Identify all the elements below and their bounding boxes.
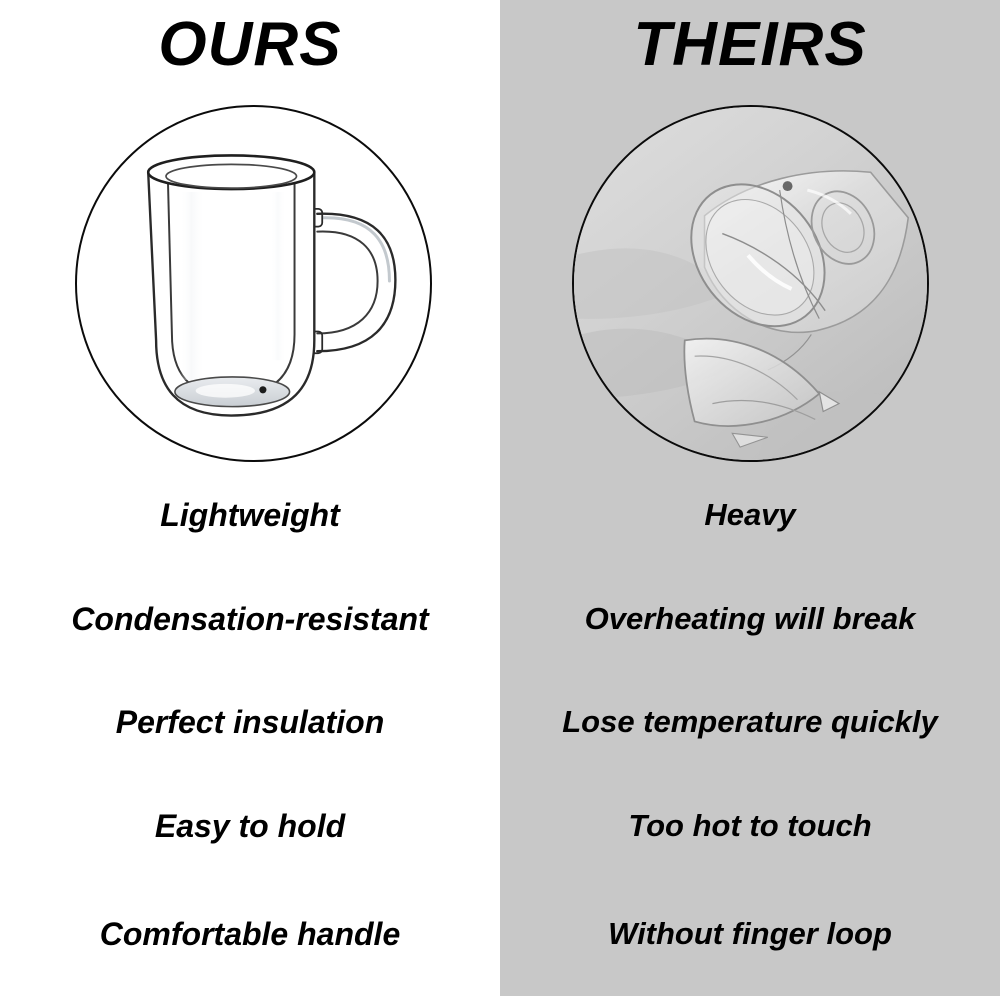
feature-item: Comfortable handle	[0, 914, 500, 954]
panel-ours: OURS	[0, 0, 500, 1000]
product-image-ours	[75, 105, 432, 462]
broken-glass-photo	[574, 107, 927, 460]
feature-item: Lightweight	[0, 495, 500, 535]
feature-item: Overheating will break	[500, 599, 1000, 639]
product-image-theirs	[572, 105, 929, 462]
comparison-infographic: OURS	[0, 0, 1000, 1000]
feature-item: Without finger loop	[500, 914, 1000, 954]
double-wall-mug-illustration	[77, 107, 430, 460]
feature-item: Lose temperature quickly	[500, 702, 1000, 742]
heading-theirs: THEIRS	[500, 6, 1000, 84]
feature-item: Condensation-resistant	[0, 599, 500, 639]
panel-theirs: THEIRS	[500, 0, 1000, 996]
heading-ours: OURS	[0, 6, 500, 84]
feature-item: Heavy	[500, 495, 1000, 535]
feature-item: Easy to hold	[0, 806, 500, 846]
feature-item: Perfect insulation	[0, 702, 500, 742]
feature-list-ours: Lightweight Condensation-resistant Perfe…	[0, 490, 500, 970]
feature-item: Too hot to touch	[500, 806, 1000, 846]
feature-list-theirs: Heavy Overheating will break Lose temper…	[500, 490, 1000, 970]
